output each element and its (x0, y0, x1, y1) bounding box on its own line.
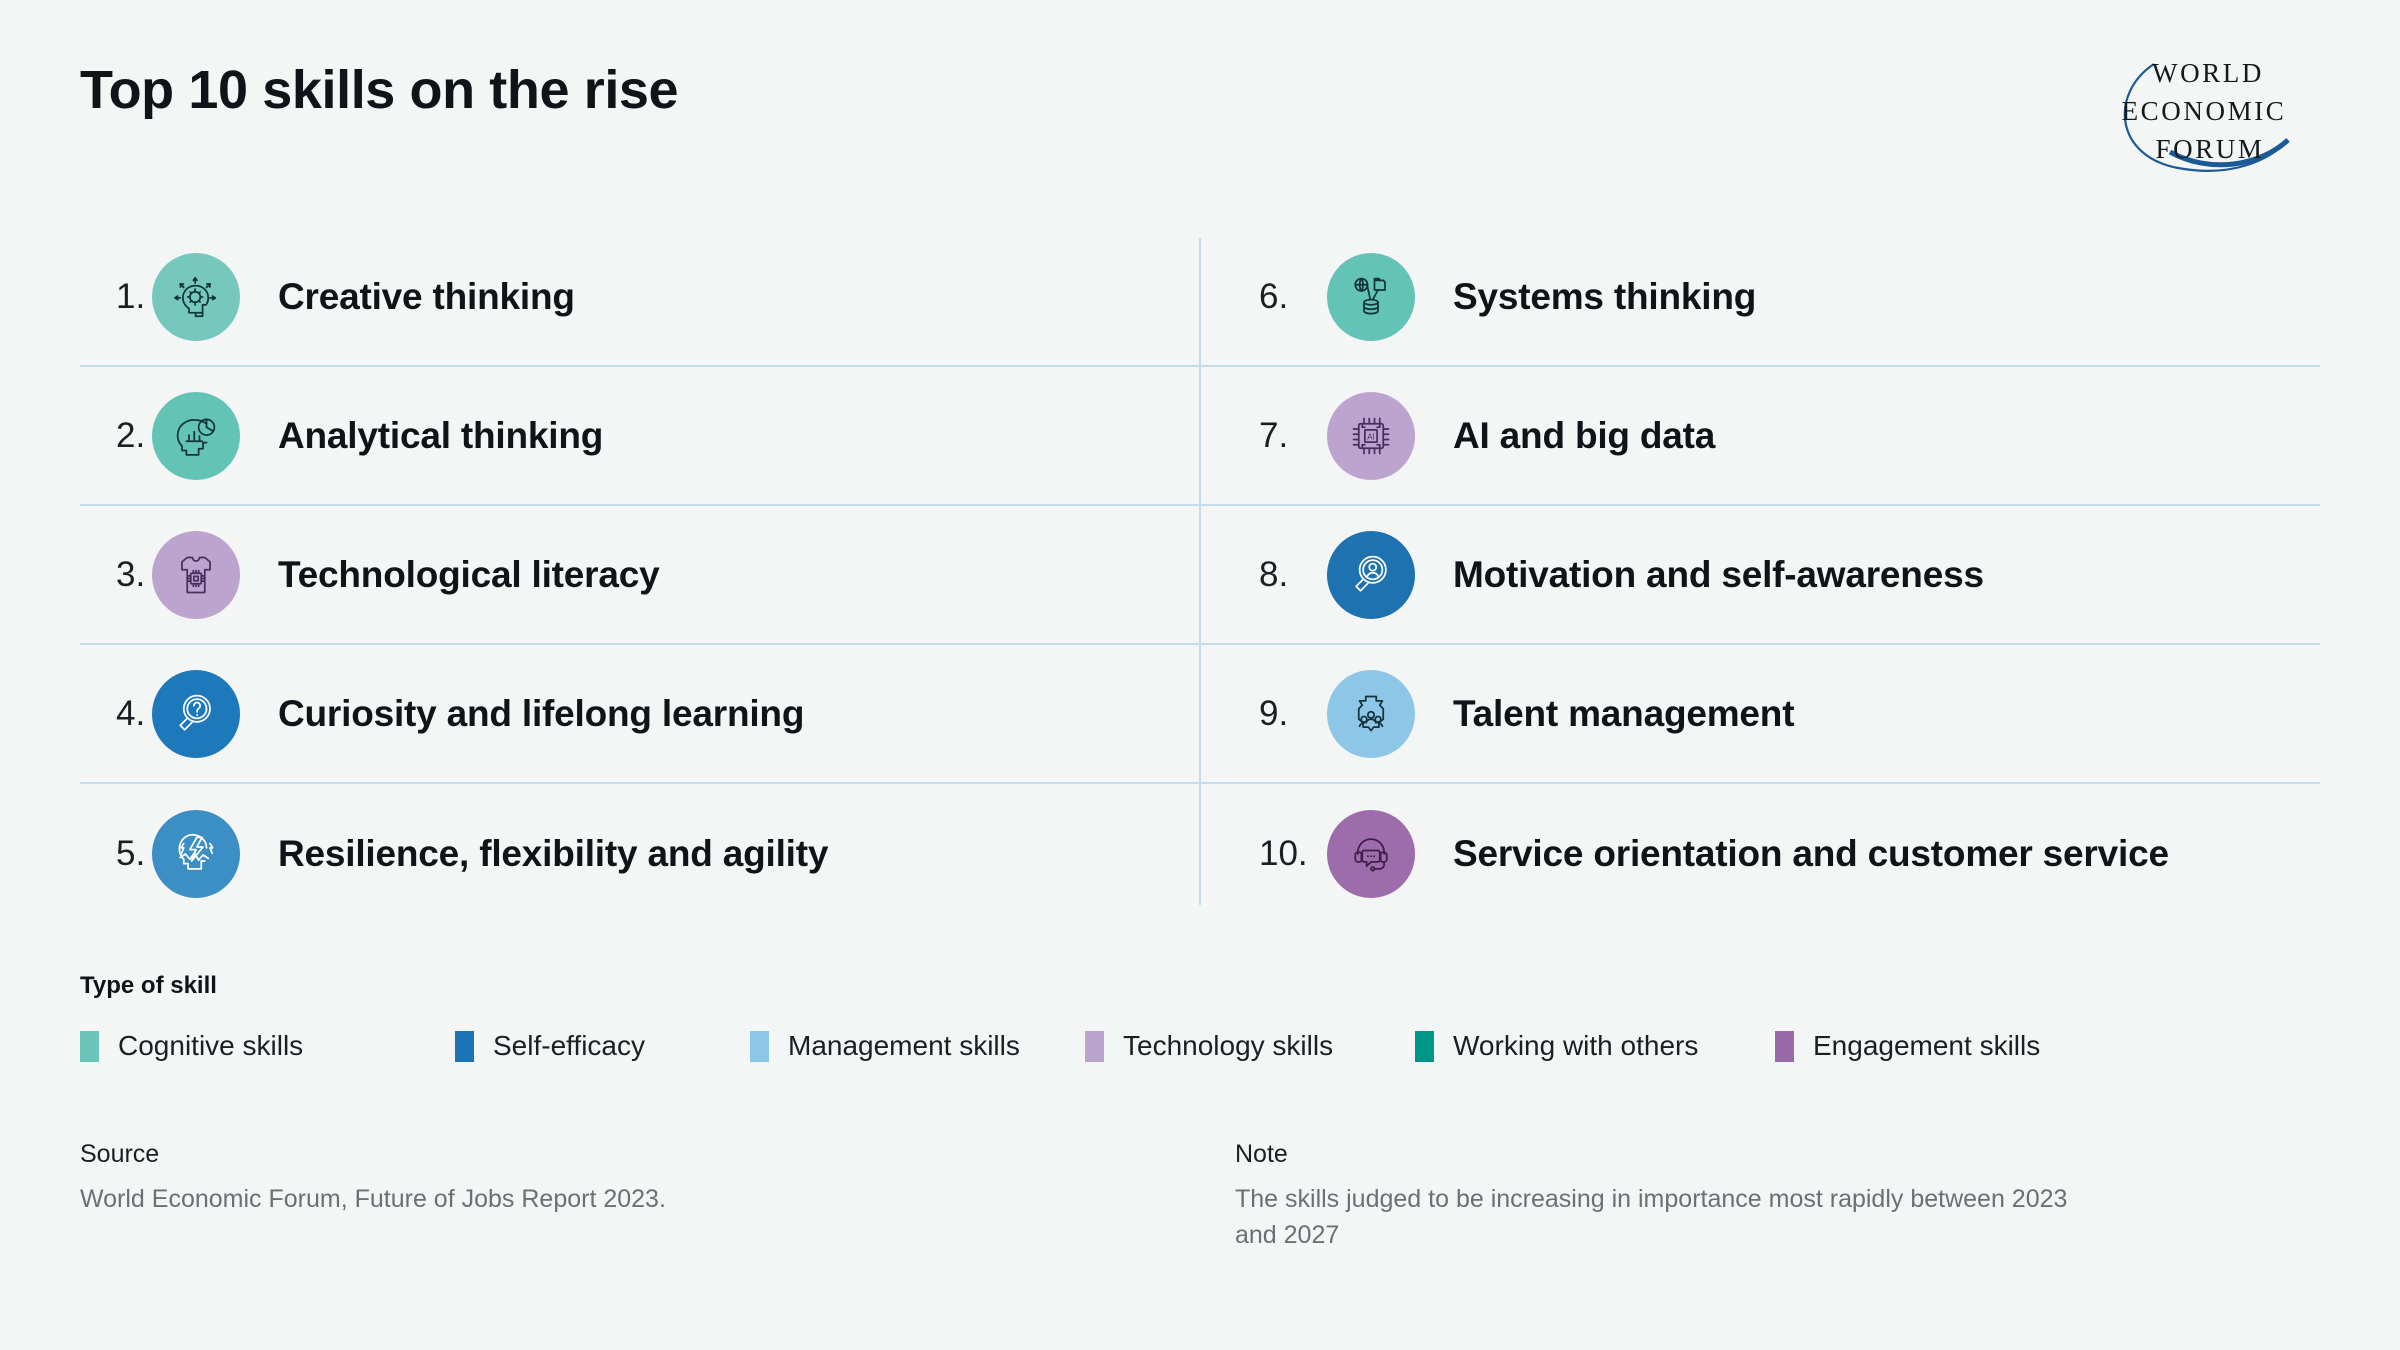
skill-label: Analytical thinking (278, 415, 603, 457)
footer-note-block: Note The skills judged to be increasing … (1235, 1140, 2320, 1254)
wef-logo-line1: WORLD (2152, 58, 2264, 88)
skill-rank: 5. (80, 834, 152, 874)
skill-label: Curiosity and lifelong learning (278, 693, 804, 735)
network-globe-database-icon (1327, 253, 1415, 341)
skill-rank: 10. (1241, 834, 1327, 874)
source-text: World Economic Forum, Future of Jobs Rep… (80, 1181, 920, 1217)
skill-label: AI and big data (1453, 415, 1715, 457)
skill-rank: 6. (1241, 277, 1327, 317)
head-gear-idea-icon (152, 253, 240, 341)
skill-row[interactable]: 4. Curiosity and lifelong learning (80, 645, 1199, 784)
wef-logo-line2: ECONOMIC (2122, 96, 2287, 126)
legend-swatch-icon (80, 1031, 99, 1062)
skill-rank: 1. (80, 277, 152, 317)
skill-label: Technological literacy (278, 554, 659, 596)
legend-item-working-with-others[interactable]: Working with others (1415, 1030, 1775, 1062)
skill-label: Talent management (1453, 693, 1794, 735)
gear-people-icon (1327, 670, 1415, 758)
legend-swatch-icon (750, 1031, 769, 1062)
skill-row[interactable]: 2. Analytical thinking (80, 367, 1199, 506)
skill-rank: 9. (1241, 694, 1327, 734)
skill-row[interactable]: 9. Talent management (1201, 645, 2320, 784)
legend-item-technology-skills[interactable]: Technology skills (1085, 1030, 1415, 1062)
skills-column-right: 6. Systems thinking 7. (1201, 228, 2320, 923)
wef-logo: WORLD ECONOMIC FORUM (2092, 48, 2322, 183)
skill-row[interactable]: 7. AI AI and big data (1201, 367, 2320, 506)
legend: Type of skill Cognitive skills Self-effi… (80, 972, 2320, 1062)
legend-item-engagement-skills[interactable]: Engagement skills (1775, 1030, 2040, 1062)
magnifier-question-icon (152, 670, 240, 758)
skill-rank: 8. (1241, 555, 1327, 595)
legend-label: Cognitive skills (118, 1030, 303, 1062)
skill-label: Creative thinking (278, 276, 575, 318)
legend-item-cognitive-skills[interactable]: Cognitive skills (80, 1030, 455, 1062)
page-title: Top 10 skills on the rise (80, 62, 678, 119)
legend-label: Working with others (1453, 1030, 1698, 1062)
headset-chat-icon (1327, 810, 1415, 898)
legend-swatch-icon (455, 1031, 474, 1062)
legend-item-self-efficacy[interactable]: Self-efficacy (455, 1030, 750, 1062)
skill-row[interactable]: 8. Motivation and self-awareness (1201, 506, 2320, 645)
skills-column-left: 1. Creative thinking 2. (80, 228, 1199, 923)
ai-chip-icon: AI (1327, 392, 1415, 480)
legend-label: Technology skills (1123, 1030, 1333, 1062)
legend-label: Self-efficacy (493, 1030, 645, 1062)
svg-text:AI: AI (1367, 432, 1374, 441)
wef-logo-line3: FORUM (2155, 134, 2264, 164)
source-heading: Source (80, 1140, 1235, 1169)
note-heading: Note (1235, 1140, 2320, 1169)
footer-source-block: Source World Economic Forum, Future of J… (80, 1140, 1235, 1254)
skill-label: Systems thinking (1453, 276, 1756, 318)
note-text: The skills judged to be increasing in im… (1235, 1181, 2075, 1254)
skill-label: Resilience, flexibility and agility (278, 833, 828, 875)
skill-row[interactable]: 5. Resilience, flexibility and agility (80, 784, 1199, 923)
legend-items: Cognitive skills Self-efficacy Managemen… (80, 1030, 2320, 1062)
legend-label: Engagement skills (1813, 1030, 2040, 1062)
skill-rank: 4. (80, 694, 152, 734)
footer: Source World Economic Forum, Future of J… (80, 1140, 2320, 1254)
skills-grid: 1. Creative thinking 2. (80, 228, 2320, 923)
legend-swatch-icon (1085, 1031, 1104, 1062)
skill-rank: 7. (1241, 416, 1327, 456)
skill-row[interactable]: 3. Technological literacy (80, 506, 1199, 645)
legend-label: Management skills (788, 1030, 1020, 1062)
tshirt-chip-icon (152, 531, 240, 619)
legend-title: Type of skill (80, 972, 2320, 1000)
skill-row[interactable]: 1. Creative thinking (80, 228, 1199, 367)
skill-label: Service orientation and customer service (1453, 833, 2169, 875)
legend-swatch-icon (1415, 1031, 1434, 1062)
skill-rank: 3. (80, 555, 152, 595)
legend-item-management-skills[interactable]: Management skills (750, 1030, 1085, 1062)
head-charts-icon (152, 392, 240, 480)
skill-row[interactable]: 6. Systems thinking (1201, 228, 2320, 367)
magnifier-person-icon (1327, 531, 1415, 619)
skill-label: Motivation and self-awareness (1453, 554, 1984, 596)
skill-rank: 2. (80, 416, 152, 456)
head-lightning-icon (152, 810, 240, 898)
legend-swatch-icon (1775, 1031, 1794, 1062)
skill-row[interactable]: 10. Service orientation and customer ser… (1201, 784, 2320, 923)
